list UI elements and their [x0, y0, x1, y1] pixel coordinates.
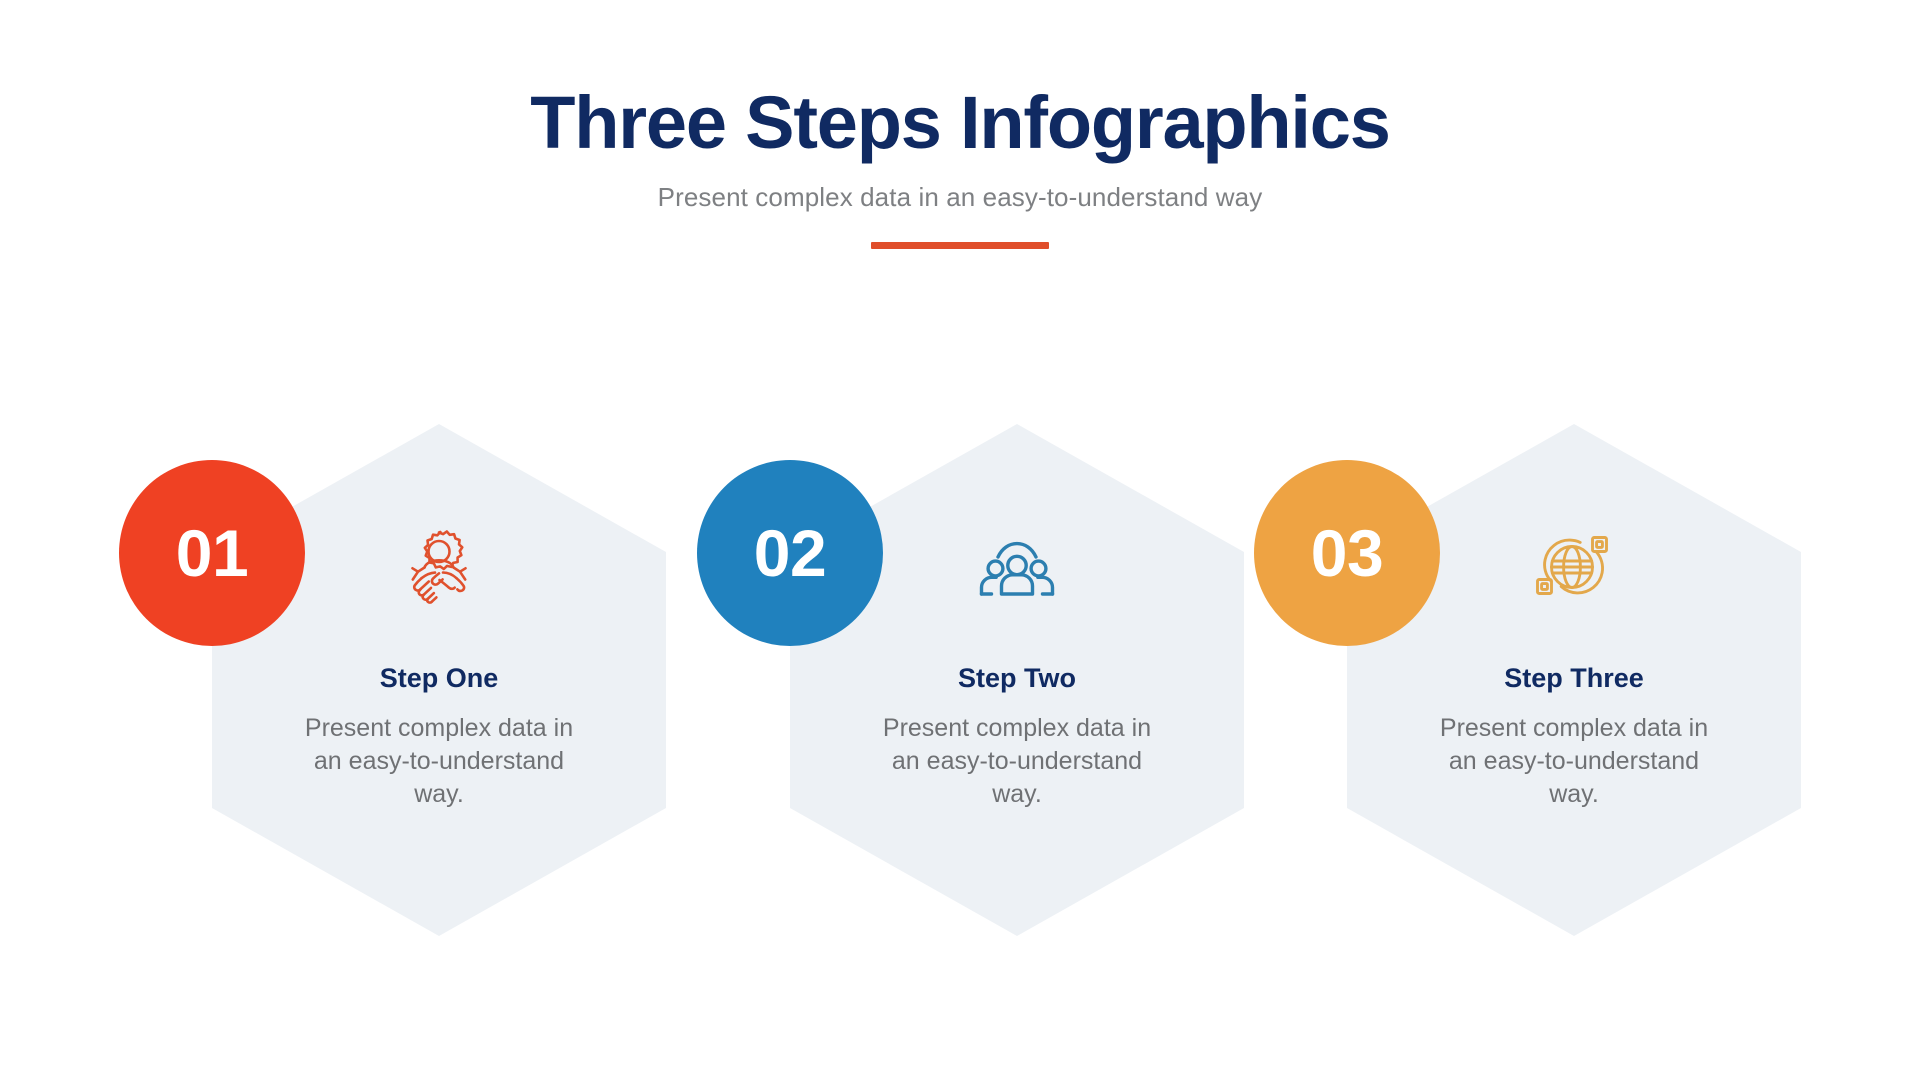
page-title: Three Steps Infographics [0, 0, 1920, 162]
page-subtitle: Present complex data in an easy-to-under… [0, 162, 1920, 213]
handshake-gear-icon [391, 518, 487, 614]
step-card-2[interactable]: Step Two Present complex data in an easy… [790, 424, 1244, 936]
step-card-1[interactable]: Step One Present complex data in an easy… [212, 424, 666, 936]
step-title-3: Step Three [1347, 662, 1801, 694]
people-group-icon [969, 518, 1065, 614]
step-number-label-3: 03 [1311, 520, 1383, 586]
title-divider [871, 242, 1049, 249]
step-title-1: Step One [212, 662, 666, 694]
step-number-badge-2[interactable]: 02 [697, 460, 883, 646]
step-number-badge-3[interactable]: 03 [1254, 460, 1440, 646]
step-description-2: Present complex data in an easy-to-under… [867, 712, 1167, 811]
step-description-3: Present complex data in an easy-to-under… [1424, 712, 1724, 811]
step-number-badge-1[interactable]: 01 [119, 460, 305, 646]
globe-network-icon [1526, 518, 1622, 614]
header: Three Steps Infographics Present complex… [0, 0, 1920, 249]
step-title-2: Step Two [790, 662, 1244, 694]
step-number-label-2: 02 [754, 520, 826, 586]
step-card-3[interactable]: Step Three Present complex data in an ea… [1347, 424, 1801, 936]
step-description-1: Present complex data in an easy-to-under… [289, 712, 589, 811]
step-number-label-1: 01 [176, 520, 248, 586]
steps-container: Step One Present complex data in an easy… [0, 424, 1920, 936]
